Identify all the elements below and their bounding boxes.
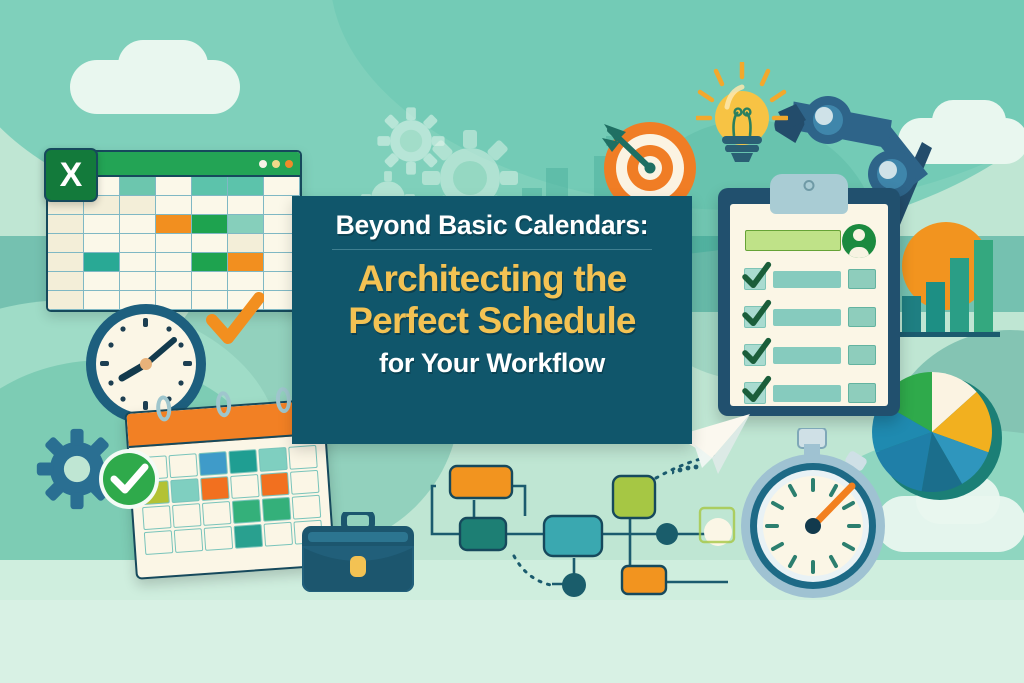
spreadsheet-cell-3-3[interactable] <box>156 234 192 253</box>
green-check-badge-icon <box>98 448 160 510</box>
calendar-day-1-1[interactable] <box>170 478 200 503</box>
banner-divider <box>332 249 652 251</box>
cloud-top-left2 <box>118 40 208 90</box>
flowchart-dotted-connector-1 <box>514 556 556 586</box>
background-gear-small <box>376 106 446 176</box>
spreadsheet-cell-3-1[interactable] <box>84 234 120 253</box>
spreadsheet-cell-2-3[interactable] <box>156 215 192 234</box>
checklist-item-label <box>773 309 841 326</box>
calendar-day-2-4[interactable] <box>262 497 292 522</box>
calendar-day-3-3[interactable] <box>234 524 264 549</box>
briefcase-icon <box>300 512 416 594</box>
spreadsheet-cell-5-3[interactable] <box>156 272 192 291</box>
checklist-row[interactable] <box>744 380 876 406</box>
avatar-body <box>849 247 869 258</box>
spreadsheet-cell-5-4[interactable] <box>192 272 228 291</box>
checklist-item-label <box>773 271 841 288</box>
window-dot-minimize[interactable] <box>259 160 267 168</box>
spreadsheet-cell-3-0[interactable] <box>48 234 84 253</box>
check-icon <box>741 300 771 330</box>
avatar <box>842 224 876 258</box>
calendar-day-3-0[interactable] <box>144 530 174 555</box>
calendar-day-2-3[interactable] <box>232 499 262 524</box>
spreadsheet-cell-1-3[interactable] <box>156 196 192 215</box>
calendar-day-0-4[interactable] <box>258 447 288 472</box>
orange-checkmark-icon <box>206 292 264 350</box>
spreadsheet-cell-0-4[interactable] <box>192 177 228 196</box>
lightbulb-icon <box>696 62 788 174</box>
plane-trail <box>672 465 698 475</box>
checklist-row[interactable] <box>744 342 876 368</box>
checklist-row[interactable] <box>744 304 876 330</box>
calendar-day-0-2[interactable] <box>198 451 228 476</box>
checklist-item-tag <box>848 345 876 365</box>
checklist-item-tag <box>848 307 876 327</box>
checklist-row[interactable] <box>744 266 876 292</box>
spreadsheet-cell-4-5[interactable] <box>228 253 264 272</box>
spreadsheet-app-icon: X <box>44 148 98 202</box>
spreadsheet-cell-4-1[interactable] <box>84 253 120 272</box>
spreadsheet-cell-2-2[interactable] <box>120 215 156 234</box>
spreadsheet-logo-glyph: X <box>60 158 83 192</box>
checklist-item-label <box>773 347 841 364</box>
checklist-checkbox[interactable] <box>744 344 766 366</box>
title-banner: Beyond Basic Calendars: Architecting the… <box>292 196 692 444</box>
calendar-day-0-5[interactable] <box>288 445 318 470</box>
stopwatch-icon <box>734 428 892 600</box>
checklist-item-label <box>773 385 841 402</box>
checklist-checkbox[interactable] <box>744 306 766 328</box>
check-icon <box>741 262 771 292</box>
spreadsheet-cell-4-2[interactable] <box>120 253 156 272</box>
spreadsheet-cell-2-5[interactable] <box>228 215 264 234</box>
spreadsheet-cell-2-1[interactable] <box>84 215 120 234</box>
calendar-day-3-2[interactable] <box>204 526 234 551</box>
spreadsheet-cell-3-2[interactable] <box>120 234 156 253</box>
flowchart-node-5 <box>622 566 666 594</box>
spreadsheet-cell-5-0[interactable] <box>48 272 84 291</box>
calendar-day-1-3[interactable] <box>230 474 260 499</box>
calendar-day-2-2[interactable] <box>202 501 232 526</box>
spreadsheet-cell-6-0[interactable] <box>48 291 84 310</box>
calendar-day-3-4[interactable] <box>264 522 294 547</box>
flowchart-node-7 <box>656 523 678 545</box>
spreadsheet-cell-1-2[interactable] <box>120 196 156 215</box>
spreadsheet-cell-0-5[interactable] <box>228 177 264 196</box>
checklist-checkbox[interactable] <box>744 268 766 290</box>
flowchart-node-2 <box>460 518 506 550</box>
check-icon <box>741 376 771 406</box>
checklist-item-tag <box>848 383 876 403</box>
illustration-canvas: X <box>0 0 1024 683</box>
banner-line-3: Perfect Schedule <box>348 300 635 341</box>
spreadsheet-cell-4-3[interactable] <box>156 253 192 272</box>
banner-line-4: for Your Workflow <box>379 348 605 379</box>
clipboard-clamp <box>770 174 848 214</box>
spreadsheet-cell-5-1[interactable] <box>84 272 120 291</box>
spreadsheet-cell-0-3[interactable] <box>156 177 192 196</box>
checklist-item-tag <box>848 269 876 289</box>
spreadsheet-cell-2-4[interactable] <box>192 215 228 234</box>
spreadsheet-cell-4-0[interactable] <box>48 253 84 272</box>
calendar-day-3-1[interactable] <box>174 528 204 553</box>
spreadsheet-cell-0-2[interactable] <box>120 177 156 196</box>
spreadsheet-cell-1-5[interactable] <box>228 196 264 215</box>
window-dot-maximize[interactable] <box>272 160 280 168</box>
spreadsheet-cell-5-5[interactable] <box>228 272 264 291</box>
flowchart-node-6 <box>562 573 586 597</box>
clipboard-checklist[interactable] <box>718 188 900 416</box>
clipboard-title-bar <box>745 230 841 251</box>
window-dot-close[interactable] <box>285 160 293 168</box>
spreadsheet-cell-4-4[interactable] <box>192 253 228 272</box>
calendar-day-2-1[interactable] <box>172 503 202 528</box>
flowchart-node-1 <box>450 466 512 498</box>
clipboard-paper <box>730 204 888 406</box>
calendar-day-0-1[interactable] <box>168 453 198 478</box>
calendar-day-1-5[interactable] <box>290 470 320 495</box>
spreadsheet-cell-2-0[interactable] <box>48 215 84 234</box>
banner-line-2: Architecting the <box>358 258 627 299</box>
clipboard-clamp-hole <box>804 180 815 191</box>
calendar-day-1-4[interactable] <box>260 472 290 497</box>
spreadsheet-cell-3-5[interactable] <box>228 234 264 253</box>
spreadsheet-cell-3-4[interactable] <box>192 234 228 253</box>
checklist-checkbox[interactable] <box>744 382 766 404</box>
spreadsheet-cell-1-4[interactable] <box>192 196 228 215</box>
flowchart-node-3 <box>544 516 602 556</box>
cloud-top-right2 <box>932 100 1006 142</box>
calendar-day-0-3[interactable] <box>228 449 258 474</box>
check-icon <box>741 338 771 368</box>
spreadsheet-cell-5-2[interactable] <box>120 272 156 291</box>
flowchart-node-4 <box>613 476 655 518</box>
avatar-head <box>853 229 865 241</box>
calendar-day-1-2[interactable] <box>200 476 230 501</box>
spreadsheet-cell-0-6[interactable] <box>264 177 300 196</box>
banner-line-1: Beyond Basic Calendars: <box>336 212 649 240</box>
